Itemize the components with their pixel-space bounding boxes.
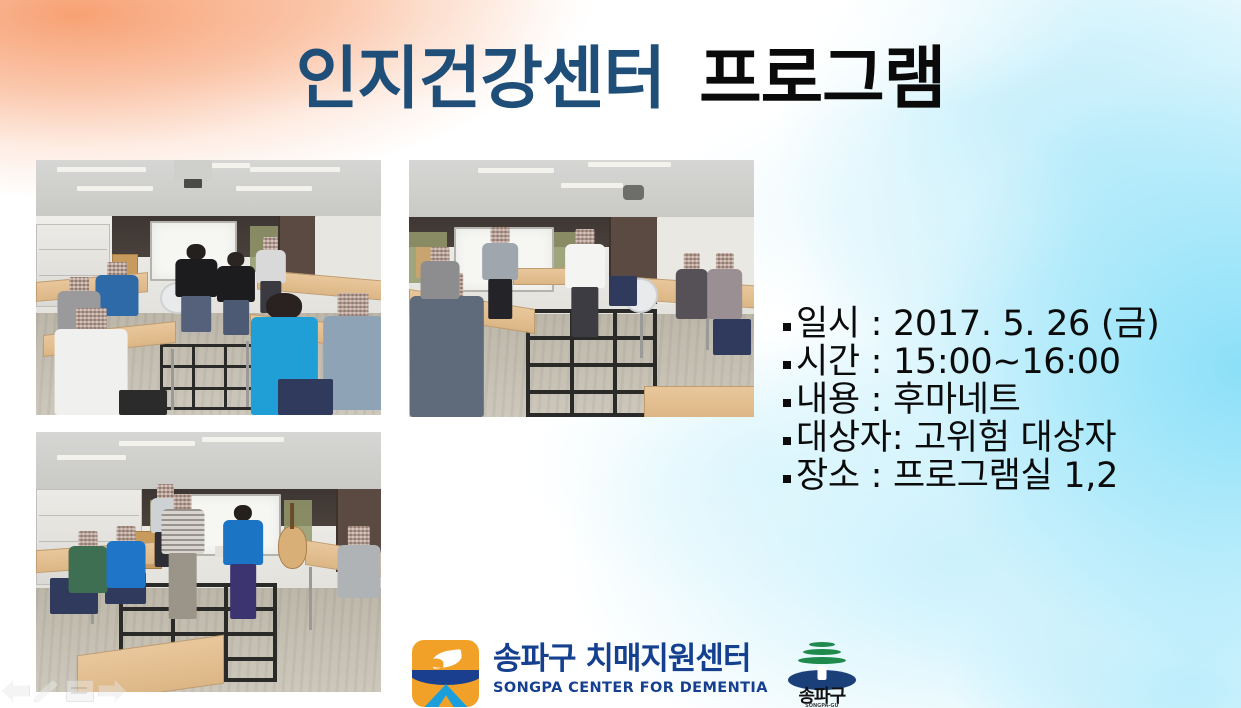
list-item: 시간 : 15:00~16:00 [783,343,1223,381]
pen-icon [34,680,58,702]
slideshow-controls [0,674,132,708]
bullet-marker-icon [783,475,791,483]
guitar [278,526,308,570]
floor-grid-mat [160,344,257,410]
list-item-text: 내용 : 후마네트 [796,380,1021,420]
pen-tool-button[interactable] [34,680,58,702]
logo-wordmark: 송파구 치매지원센터 SONGPA CENTER FOR DEMENTIA [493,640,768,696]
list-item-text: 시간 : 15:00~16:00 [796,342,1121,382]
notes-icon [66,680,94,702]
ceiling [36,432,381,489]
program-details-list: 일시 : 2017. 5. 26 (금) 시간 : 15:00~16:00 내용… [783,305,1223,495]
title-sub-text: 프로그램 [699,40,945,119]
bullet-marker-icon [783,361,791,369]
list-item: 장소 : 프로그램실 1,2 [783,457,1223,495]
list-item: 일시 : 2017. 5. 26 (금) [783,305,1223,343]
bullet-marker-icon [783,323,791,331]
bullet-marker-icon [783,437,791,445]
logo-english-name: SONGPA CENTER FOR DEMENTIA [493,681,768,696]
person-seated [336,526,381,599]
arrow-right-icon [98,680,126,702]
songpa-dementia-center-mark-icon [412,640,479,707]
photo-3-scene [36,432,381,692]
list-item-text: 대상자: 고위험 대상자 [796,418,1116,458]
person-walking [174,244,219,336]
person-seated [419,247,460,298]
photo-classroom-2 [409,160,754,417]
photo-classroom-3 [36,432,381,692]
photo-1-scene [36,160,381,415]
person-seated [67,531,108,593]
list-item-text: 장소 : 프로그램실 1,2 [796,456,1118,496]
logo-korean-name: 송파구 치매지원센터 [493,644,768,675]
ceiling [36,160,381,216]
person-seated-foreground [53,308,129,415]
list-item: 대상자: 고위험 대상자 [783,419,1223,457]
slide-title: 인지건강센터프로그램 [0,46,1241,114]
person-walking [564,229,605,337]
previous-slide-button[interactable] [2,680,26,702]
photo-2-scene [409,160,754,417]
list-item-text: 일시 : 2017. 5. 26 (금) [796,304,1159,344]
table [644,386,754,417]
photo-classroom-1 [36,160,381,415]
ceiling [409,160,754,217]
person-seated [105,526,146,588]
arrow-left-icon [2,680,30,702]
next-slide-button[interactable] [98,680,122,702]
songpa-gu-emblem-icon: 송파구 SONGPA-GU [786,640,858,706]
person-walking [160,494,205,619]
bullet-marker-icon [783,399,791,407]
person-seated [675,253,710,320]
slide-menu-button[interactable] [66,680,90,702]
list-item: 내용 : 후마네트 [783,381,1223,419]
person-presenting [481,227,519,320]
organization-logo: 송파구 치매지원센터 SONGPA CENTER FOR DEMENTIA 송파… [412,640,858,707]
title-main-text: 인지건강센터 [296,40,665,119]
emblem-english-label: SONGPA-GU [786,704,858,708]
presentation-slide: 인지건강센터프로그램 [0,0,1241,708]
person-walking [222,505,263,619]
person-seated [706,253,744,320]
